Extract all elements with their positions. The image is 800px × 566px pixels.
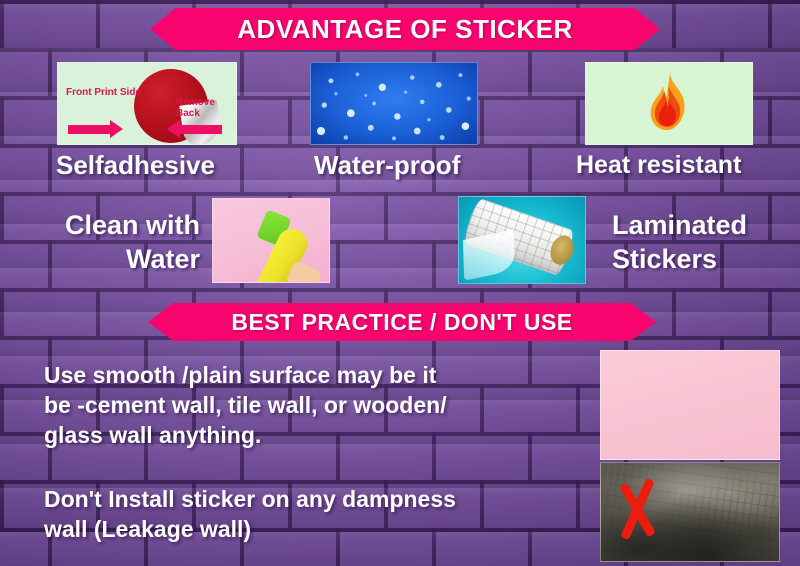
red-cross-icon [615,481,661,539]
flame-icon [646,73,692,135]
clean-with-water-image [212,198,330,283]
good-surface-sample-image [600,350,780,460]
poster-canvas: ADVANTAGE OF STICKER Front Print Side Re… [0,0,800,566]
arrow-right-icon [68,125,110,134]
remove-back-label: Remove Back [176,97,236,119]
best-practice-do-text: Use smooth /plain surface may be it be -… [44,360,584,450]
water-proof-image [310,62,478,145]
caption-heat-resistant: Heat resistant [576,151,741,180]
laminated-stickers-image [458,196,586,284]
selfadhesive-image: Front Print Side Remove Back [57,62,237,145]
heat-resistant-image [585,62,753,145]
banner-advantage-of-sticker: ADVANTAGE OF STICKER [150,8,660,50]
front-print-side-label: Front Print Side [66,87,141,98]
arrow-left-icon [180,125,222,134]
caption-water-proof: Water-proof [314,150,460,181]
caption-clean-with-water: Clean with Water [55,208,200,276]
water-droplets-icon [311,63,477,144]
damp-wall-sample-image [600,462,780,562]
caption-selfadhesive: Selfadhesive [56,150,215,181]
best-practice-dont-text: Don't Install sticker on any dampness wa… [44,484,584,544]
caption-laminated-stickers: Laminated Stickers [612,208,747,276]
banner-best-practice: BEST PRACTICE / DON'T USE [148,303,656,341]
